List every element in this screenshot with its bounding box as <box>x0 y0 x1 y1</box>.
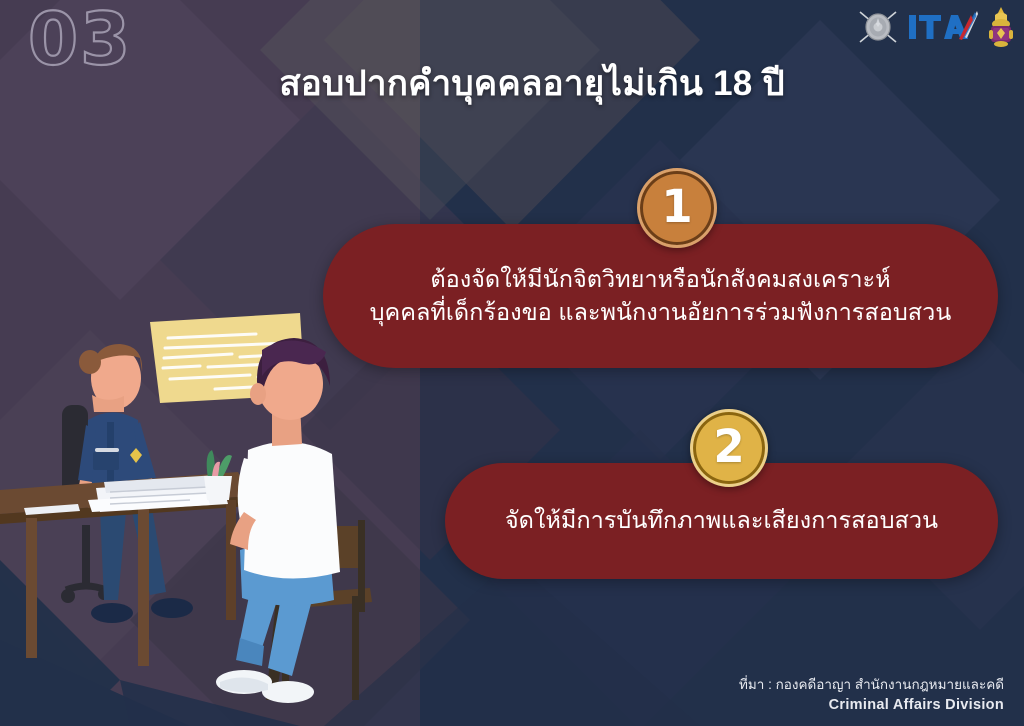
police-shield-emblem-icon <box>856 6 900 48</box>
logo-bar <box>856 3 1016 51</box>
ita-logo <box>907 7 979 47</box>
page-title: สอบปากคำบุคคลอายุไม่เกิน 18 ปี <box>0 56 1024 111</box>
item-2-badge: 2 <box>690 409 768 487</box>
footer-source: ที่มา : กองคดีอาญา สำนักงานกฎหมายและคดี <box>739 675 1004 695</box>
illustration-scene <box>0 300 420 726</box>
item-1-badge-number: 1 <box>661 180 692 233</box>
thai-royal-crest-icon <box>986 6 1016 48</box>
item-2-badge-number: 2 <box>713 420 744 473</box>
item-2-text: จัดให้มีการบันทึกภาพและเสียงการสอบสวน <box>505 504 938 537</box>
item-1-badge: 1 <box>637 168 717 248</box>
police-interview-illustration <box>0 300 420 726</box>
item-1-box: ต้องจัดให้มีนักจิตวิทยาหรือนักสังคมสงเคร… <box>323 224 998 368</box>
item-1-text: ต้องจัดให้มีนักจิตวิทยาหรือนักสังคมสงเคร… <box>370 263 952 330</box>
footer-english: Criminal Affairs Division <box>739 695 1004 716</box>
infographic-slide: 03 <box>0 0 1024 726</box>
footer: ที่มา : กองคดีอาญา สำนักงานกฎหมายและคดี … <box>739 675 1004 716</box>
